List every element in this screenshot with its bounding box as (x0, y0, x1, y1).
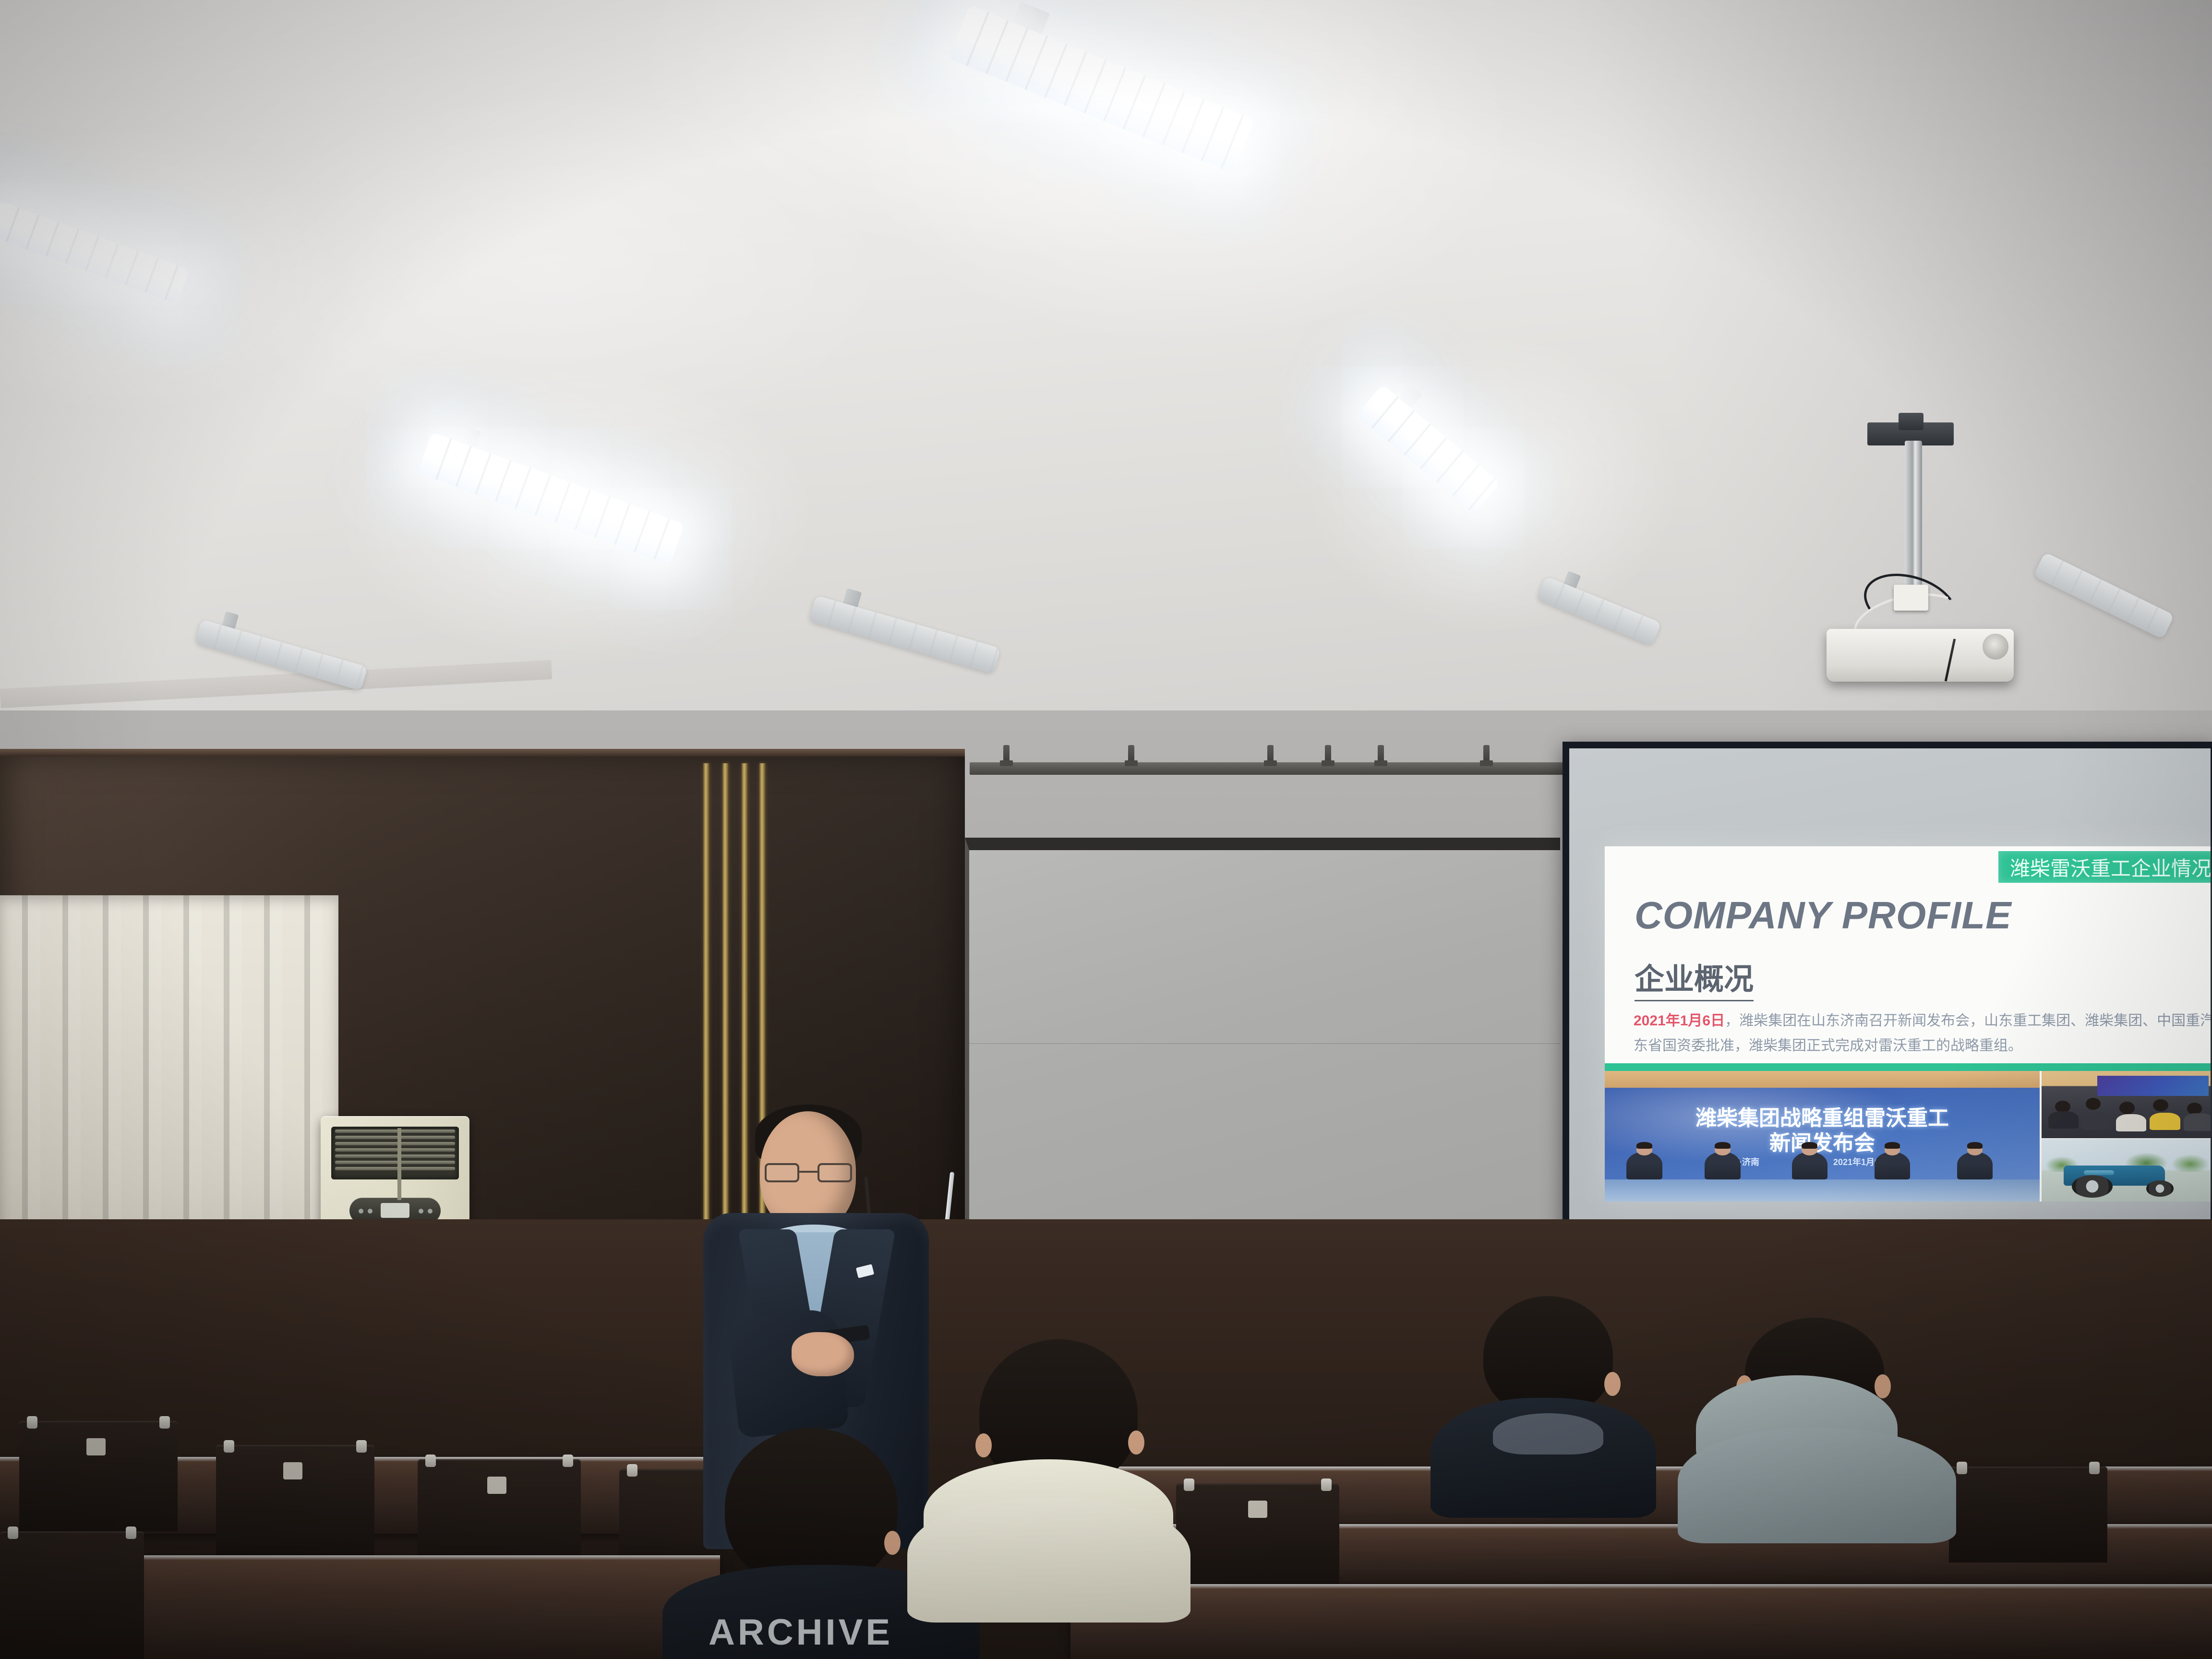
slide-body-line-2: 东省国资委批准，潍柴集团正式完成对雷沃重工的战略重组。 (1634, 1034, 2022, 1055)
student-right-grey-hoodie (1668, 1318, 1956, 1534)
slide-subtitle: 企业概况 (1635, 955, 1754, 1001)
sliding-whiteboard (965, 838, 1560, 1270)
slide-corner-tab-label: 潍柴雷沃重工企业情况介绍 (2010, 853, 2211, 882)
student-ear (1128, 1431, 1144, 1455)
jacket-text: ARCHIVE (709, 1611, 893, 1653)
student-hoodie (907, 1498, 1190, 1623)
student-ear (1875, 1374, 1891, 1398)
student-head (725, 1428, 898, 1587)
student-front-cream-hoodie (902, 1339, 1190, 1599)
projector-connector-box (1894, 585, 1928, 611)
ac-hanging-cord (397, 1128, 401, 1200)
press-conference-photo: 潍柴集团战略重组雷沃重工 新闻发布会 中国·济南 2021年1月6日 (1605, 1071, 2040, 1202)
glasses-icon (765, 1163, 852, 1182)
audience-photo (2042, 1071, 2211, 1138)
student-mid-dark (1431, 1296, 1656, 1503)
seat-back-2[interactable] (216, 1445, 374, 1555)
slide-title: COMPANY PROFILE (1635, 893, 2011, 938)
seat-back-5[interactable] (0, 1531, 144, 1659)
student-ear (975, 1433, 992, 1457)
tractor-photo (2042, 1139, 2211, 1202)
slide-body-line-1: 2021年1月6日，潍柴集团在山东济南召开新闻发布会，山东重工集团、潍柴集团、中… (1634, 1009, 2211, 1030)
lecture-hall-scene: 潍柴雷沃重工企业情况介绍 COMPANY PROFILE 企业概况 2021年1… (0, 0, 2212, 1659)
projector-lens (1983, 634, 2008, 660)
student-ear (884, 1531, 901, 1555)
ac-top-grille (331, 1127, 459, 1179)
projection-screen-frame: 潍柴雷沃重工企业情况介绍 COMPANY PROFILE 企业概况 2021年1… (1563, 742, 2212, 1284)
desk-row-right-2 (1070, 1584, 2212, 1659)
projector-mount-arm (1899, 413, 1923, 430)
slide-body-date: 2021年1月6日 (1634, 1013, 1725, 1029)
seat-back-1[interactable] (19, 1421, 178, 1531)
seat-back-right-1[interactable] (1949, 1467, 2107, 1563)
slide-divider-bar (1605, 1063, 2211, 1071)
student-collar (1493, 1413, 1603, 1455)
slide-corner-tab: 潍柴雷沃重工企业情况介绍 (1998, 851, 2211, 883)
seat-back-right-2[interactable] (1176, 1483, 1339, 1584)
presenter-hand (792, 1332, 854, 1376)
student-hoodie (1678, 1428, 1956, 1543)
slide-body-text-1: ，潍柴集团在山东济南召开新闻发布会，山东重工集团、潍柴集团、中国重汽集团 (1725, 1013, 2211, 1029)
projected-slide: 潍柴雷沃重工企业情况介绍 COMPANY PROFILE 企业概况 2021年1… (1605, 846, 2211, 1202)
student-ear (1604, 1372, 1621, 1396)
